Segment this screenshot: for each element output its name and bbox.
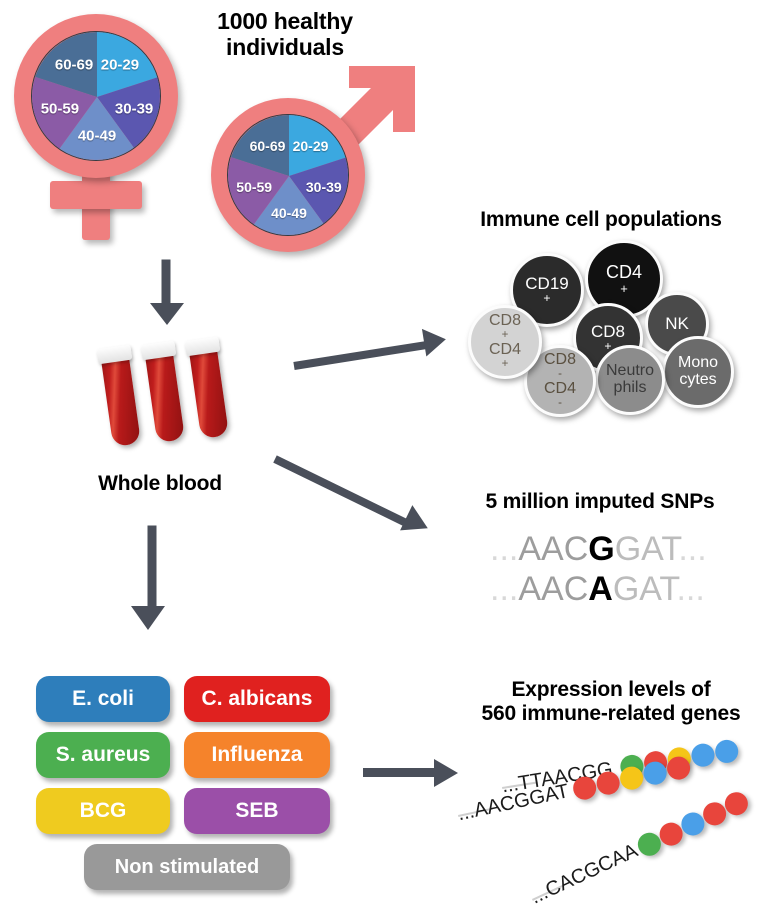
pie-label-40-49: 40-49 bbox=[271, 205, 307, 221]
arrow-shaft bbox=[148, 526, 157, 614]
cell-label: NK bbox=[665, 315, 689, 333]
cell-label: CD8+CD4+ bbox=[489, 313, 521, 370]
snp-suffix-bases: GAT bbox=[613, 570, 677, 608]
cell-label-line: CD8- bbox=[544, 352, 576, 381]
stimulus-label: E. coli bbox=[72, 687, 134, 711]
snp-suffix-ellipsis: ... bbox=[676, 570, 704, 608]
snp-suffix-bases: GAT bbox=[615, 530, 679, 568]
arrow-head bbox=[422, 325, 448, 356]
tube-body bbox=[101, 354, 141, 447]
cell-label-superscript: + bbox=[489, 359, 521, 371]
cell-label-line: CD4+ bbox=[489, 342, 521, 371]
blood-tubes bbox=[108, 340, 258, 460]
immune-cell-neutro-phils: Neutrophils bbox=[595, 345, 665, 415]
stimulus-non-stimulated[interactable]: Non stimulated bbox=[84, 844, 290, 890]
expression-title: Expression levels of 560 immune-related … bbox=[455, 678, 767, 726]
immune-cell-cd8-cd4-: CD8+CD4+ bbox=[468, 305, 542, 379]
stimulus-influenza[interactable]: Influenza bbox=[184, 732, 330, 778]
stimulus-label: BCG bbox=[80, 799, 127, 823]
expression-title-line1: Expression levels of bbox=[455, 678, 767, 702]
pie-label-20-29: 20-29 bbox=[101, 57, 139, 74]
immune-title: Immune cell populations bbox=[436, 208, 766, 232]
snp-title: 5 million imputed SNPs bbox=[440, 490, 760, 514]
arrow-head bbox=[434, 759, 458, 787]
snp-sequence-row: ...AACGGAT... bbox=[490, 530, 707, 569]
blood-tube bbox=[100, 345, 142, 453]
pie-label-40-49: 40-49 bbox=[78, 128, 116, 145]
snp-variant-base: G bbox=[588, 530, 614, 568]
stimulus-label: Non stimulated bbox=[115, 856, 259, 879]
snp-prefix-bases: AAC bbox=[518, 570, 588, 608]
male-age-pie: 20-2930-3940-4950-5960-69 bbox=[227, 114, 349, 236]
cell-label-line: CD4- bbox=[544, 381, 576, 410]
arrow-head bbox=[131, 606, 165, 630]
cell-label: CD19+ bbox=[525, 275, 568, 305]
blood-tube bbox=[188, 337, 230, 445]
gene-bead bbox=[618, 764, 645, 791]
blood-tube bbox=[144, 341, 186, 449]
cell-label-superscript: + bbox=[606, 282, 642, 295]
expression-title-line2: 560 immune-related genes bbox=[455, 702, 767, 726]
cell-label-line: Mono bbox=[678, 355, 718, 372]
arrow-head bbox=[150, 303, 184, 325]
stimulus-s-aureus[interactable]: S. aureus bbox=[36, 732, 170, 778]
cohort-title: 1000 healthy individuals bbox=[170, 8, 400, 61]
cell-label-line: NK bbox=[665, 315, 689, 333]
stimulus-bcg[interactable]: BCG bbox=[36, 788, 170, 834]
male-symbol: 20-2930-3940-4950-5960-69 bbox=[203, 58, 423, 258]
pie-label-60-69: 60-69 bbox=[55, 57, 93, 74]
cell-label-superscript: - bbox=[544, 398, 576, 410]
stimulus-seb[interactable]: SEB bbox=[184, 788, 330, 834]
pie-label-50-59: 50-59 bbox=[236, 179, 272, 195]
cell-label: Monocytes bbox=[678, 355, 718, 388]
female-age-pie: 20-2930-3940-4950-5960-69 bbox=[31, 31, 161, 161]
cell-label-line: CD4+ bbox=[606, 263, 642, 295]
cell-label: Neutrophils bbox=[606, 363, 654, 396]
whole-blood-label: Whole blood bbox=[60, 472, 260, 496]
cohort-title-text: 1000 healthy individuals bbox=[217, 8, 353, 60]
female-symbol: 20-2930-3940-4950-5960-69 bbox=[14, 14, 194, 244]
whole-blood-text: Whole blood bbox=[98, 472, 222, 495]
cell-label-superscript: + bbox=[525, 292, 568, 305]
stimulus-label: C. albicans bbox=[202, 687, 313, 711]
cell-label: CD4+ bbox=[606, 263, 642, 295]
cell-label-line: phils bbox=[606, 380, 654, 397]
tube-body bbox=[189, 346, 229, 439]
pie-label-20-29: 20-29 bbox=[293, 138, 329, 154]
arrow-head bbox=[400, 505, 434, 541]
pie-label-30-39: 30-39 bbox=[115, 101, 153, 118]
cell-label-line: cytes bbox=[678, 372, 718, 389]
snp-prefix-bases: AAC bbox=[518, 530, 588, 568]
gene-bead bbox=[641, 759, 668, 786]
cell-label-line: CD8+ bbox=[489, 313, 521, 342]
cell-label-line: CD19+ bbox=[525, 275, 568, 305]
arrow-shaft bbox=[273, 455, 410, 527]
pie-label-30-39: 30-39 bbox=[306, 179, 342, 195]
gene-bead bbox=[571, 774, 598, 801]
strand-sequence-text: ...AACGGAT bbox=[456, 780, 571, 826]
snp-sequence-row: ...AACAGAT... bbox=[490, 570, 705, 609]
snp-title-text: 5 million imputed SNPs bbox=[486, 490, 715, 513]
female-stem-horizontal bbox=[50, 181, 142, 209]
snp-suffix-ellipsis: ... bbox=[678, 530, 706, 568]
pie-label-50-59: 50-59 bbox=[41, 101, 79, 118]
figure-canvas: 20-2930-3940-4950-5960-69 20-2930-3940-4… bbox=[0, 0, 771, 922]
snp-prefix-ellipsis: ... bbox=[490, 530, 518, 568]
stimulus-label: S. aureus bbox=[56, 743, 151, 767]
immune-cell-mono-cytes: Monocytes bbox=[662, 336, 734, 408]
gene-bead bbox=[595, 769, 622, 796]
stimulus-e-coli[interactable]: E. coli bbox=[36, 676, 170, 722]
arrow-shaft bbox=[363, 768, 437, 777]
strand-sequence-text: ...CACGCAA bbox=[527, 840, 641, 910]
immune-title-text: Immune cell populations bbox=[480, 208, 722, 231]
stimulus-label: SEB bbox=[235, 799, 278, 823]
stimulus-label: Influenza bbox=[211, 743, 302, 767]
tube-body bbox=[145, 350, 185, 443]
cell-label-line: Neutro bbox=[606, 363, 654, 380]
snp-variant-base: A bbox=[588, 570, 613, 608]
arrow-shaft bbox=[293, 340, 431, 369]
snp-prefix-ellipsis: ... bbox=[490, 570, 518, 608]
pie-label-60-69: 60-69 bbox=[250, 138, 286, 154]
stimulus-c-albicans[interactable]: C. albicans bbox=[184, 676, 330, 722]
cell-label: CD8-CD4- bbox=[544, 352, 576, 409]
gene-bead bbox=[665, 754, 692, 781]
